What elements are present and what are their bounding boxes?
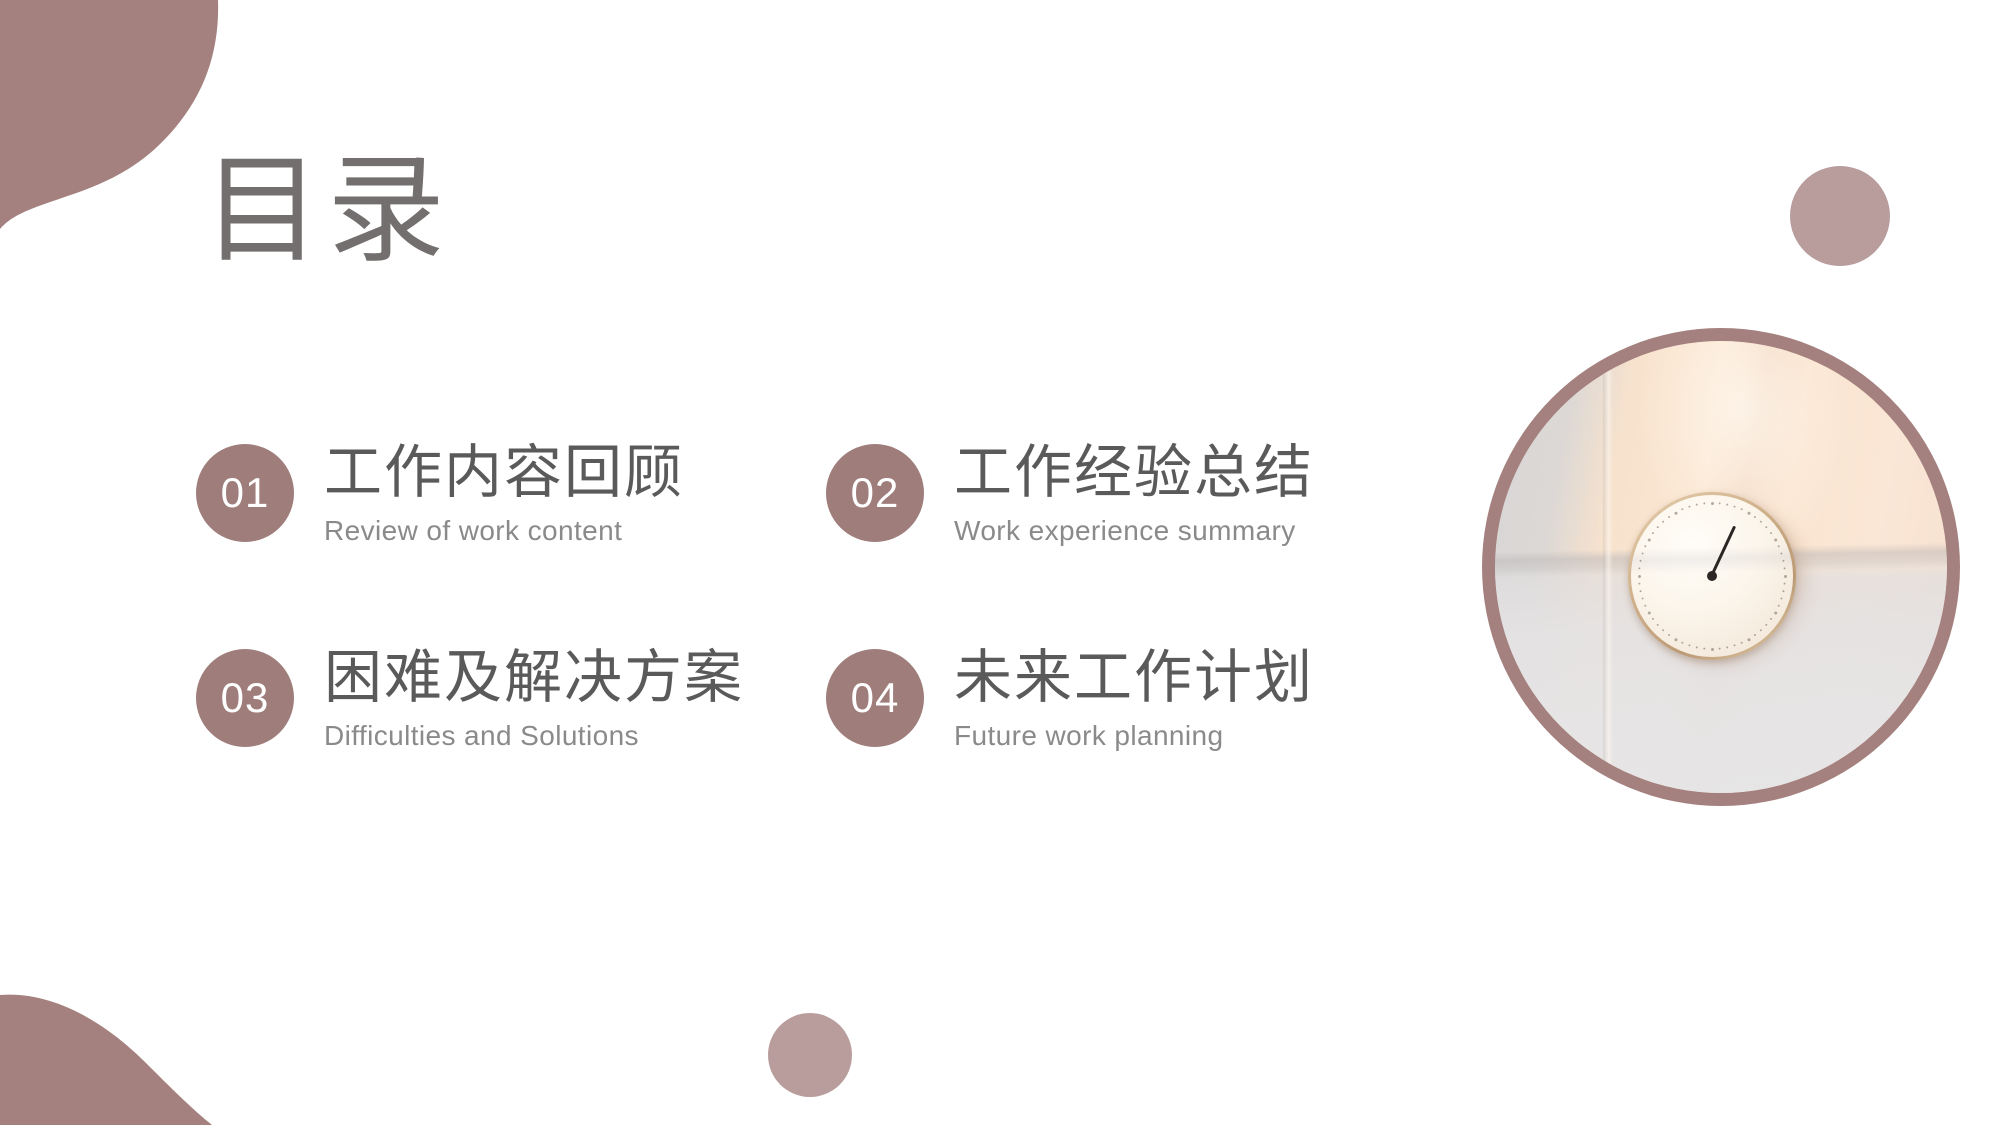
agenda-text-01: 工作内容回顾 Review of work content <box>324 438 684 547</box>
agenda-title-en-01: Review of work content <box>324 514 684 548</box>
agenda-item-02[interactable]: 02 工作经验总结 Work experience summary <box>826 438 1426 643</box>
agenda-item-04[interactable]: 04 未来工作计划 Future work planning <box>826 643 1426 848</box>
agenda-number-03: 03 <box>221 677 270 719</box>
agenda-number-02: 02 <box>851 472 900 514</box>
agenda-text-04: 未来工作计划 Future work planning <box>954 643 1314 752</box>
agenda-title-cn-04: 未来工作计划 <box>954 643 1314 714</box>
wall-clock-icon <box>1628 492 1795 659</box>
slide-canvas: 目录 01 工作内容回顾 Review of work content 02 工… <box>0 0 2000 1125</box>
photo-wall-corner <box>1603 341 1613 793</box>
agenda-title-en-02: Work experience summary <box>954 514 1314 548</box>
bottom-left-blob-shape <box>0 965 230 1125</box>
agenda-number-01: 01 <box>221 472 270 514</box>
agenda-title-en-04: Future work planning <box>954 719 1314 753</box>
agenda-item-01[interactable]: 01 工作内容回顾 Review of work content <box>196 438 826 643</box>
bottom-center-dot-icon <box>768 1013 852 1097</box>
agenda-title-cn-01: 工作内容回顾 <box>324 438 684 509</box>
agenda-list: 01 工作内容回顾 Review of work content 02 工作经验… <box>196 438 1426 848</box>
clock-rim <box>1628 492 1795 659</box>
clock-photo-image <box>1495 341 1947 793</box>
agenda-item-03[interactable]: 03 困难及解决方案 Difficulties and Solutions <box>196 643 826 848</box>
agenda-title-cn-02: 工作经验总结 <box>954 438 1314 509</box>
agenda-badge-02: 02 <box>826 444 924 542</box>
top-right-dot-icon <box>1790 166 1890 266</box>
clock-face <box>1631 495 1792 656</box>
agenda-badge-01: 01 <box>196 444 294 542</box>
agenda-text-03: 困难及解决方案 Difficulties and Solutions <box>324 643 744 752</box>
agenda-badge-03: 03 <box>196 649 294 747</box>
agenda-title-en-03: Difficulties and Solutions <box>324 719 744 753</box>
agenda-badge-04: 04 <box>826 649 924 747</box>
agenda-text-02: 工作经验总结 Work experience summary <box>954 438 1314 547</box>
clock-hand-hub <box>1707 571 1717 581</box>
clock-photo-circle <box>1482 328 1960 806</box>
page-title: 目录 <box>203 148 451 275</box>
agenda-title-cn-03: 困难及解决方案 <box>324 643 744 714</box>
agenda-number-04: 04 <box>851 677 900 719</box>
